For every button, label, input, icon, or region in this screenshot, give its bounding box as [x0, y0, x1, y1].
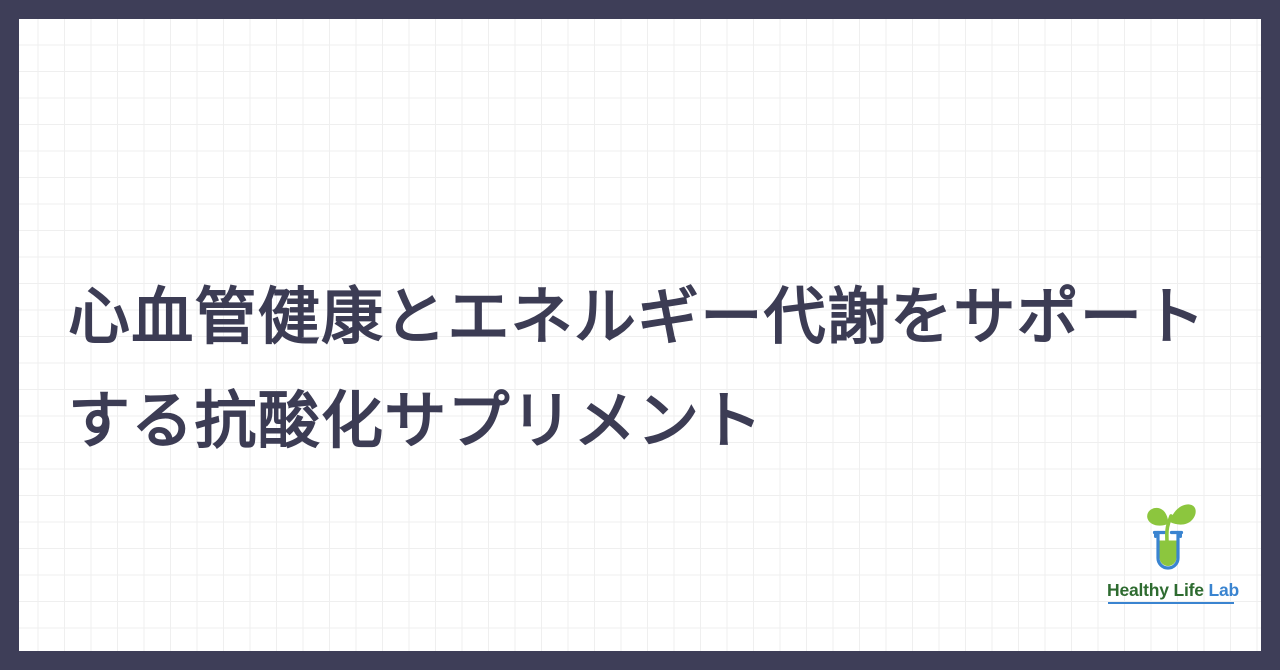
slide-root: 心血管健康とエネルギー代謝をサポートする抗酸化サプリメント [0, 0, 1280, 670]
page-title: 心血管健康とエネルギー代謝をサポートする抗酸化サプリメント [68, 266, 1208, 474]
brand-wordmark: Healthy Life Lab [1107, 579, 1235, 601]
brand-wordmark-accent: Lab [1204, 580, 1239, 600]
brand-logo: Healthy Life Lab [1107, 497, 1235, 615]
slide-canvas: 心血管健康とエネルギー代謝をサポートする抗酸化サプリメント [19, 19, 1261, 651]
brand-wordmark-primary: Healthy Life [1107, 580, 1204, 600]
brand-underline [1108, 602, 1234, 604]
test-tube-sprout-icon [1129, 497, 1207, 575]
